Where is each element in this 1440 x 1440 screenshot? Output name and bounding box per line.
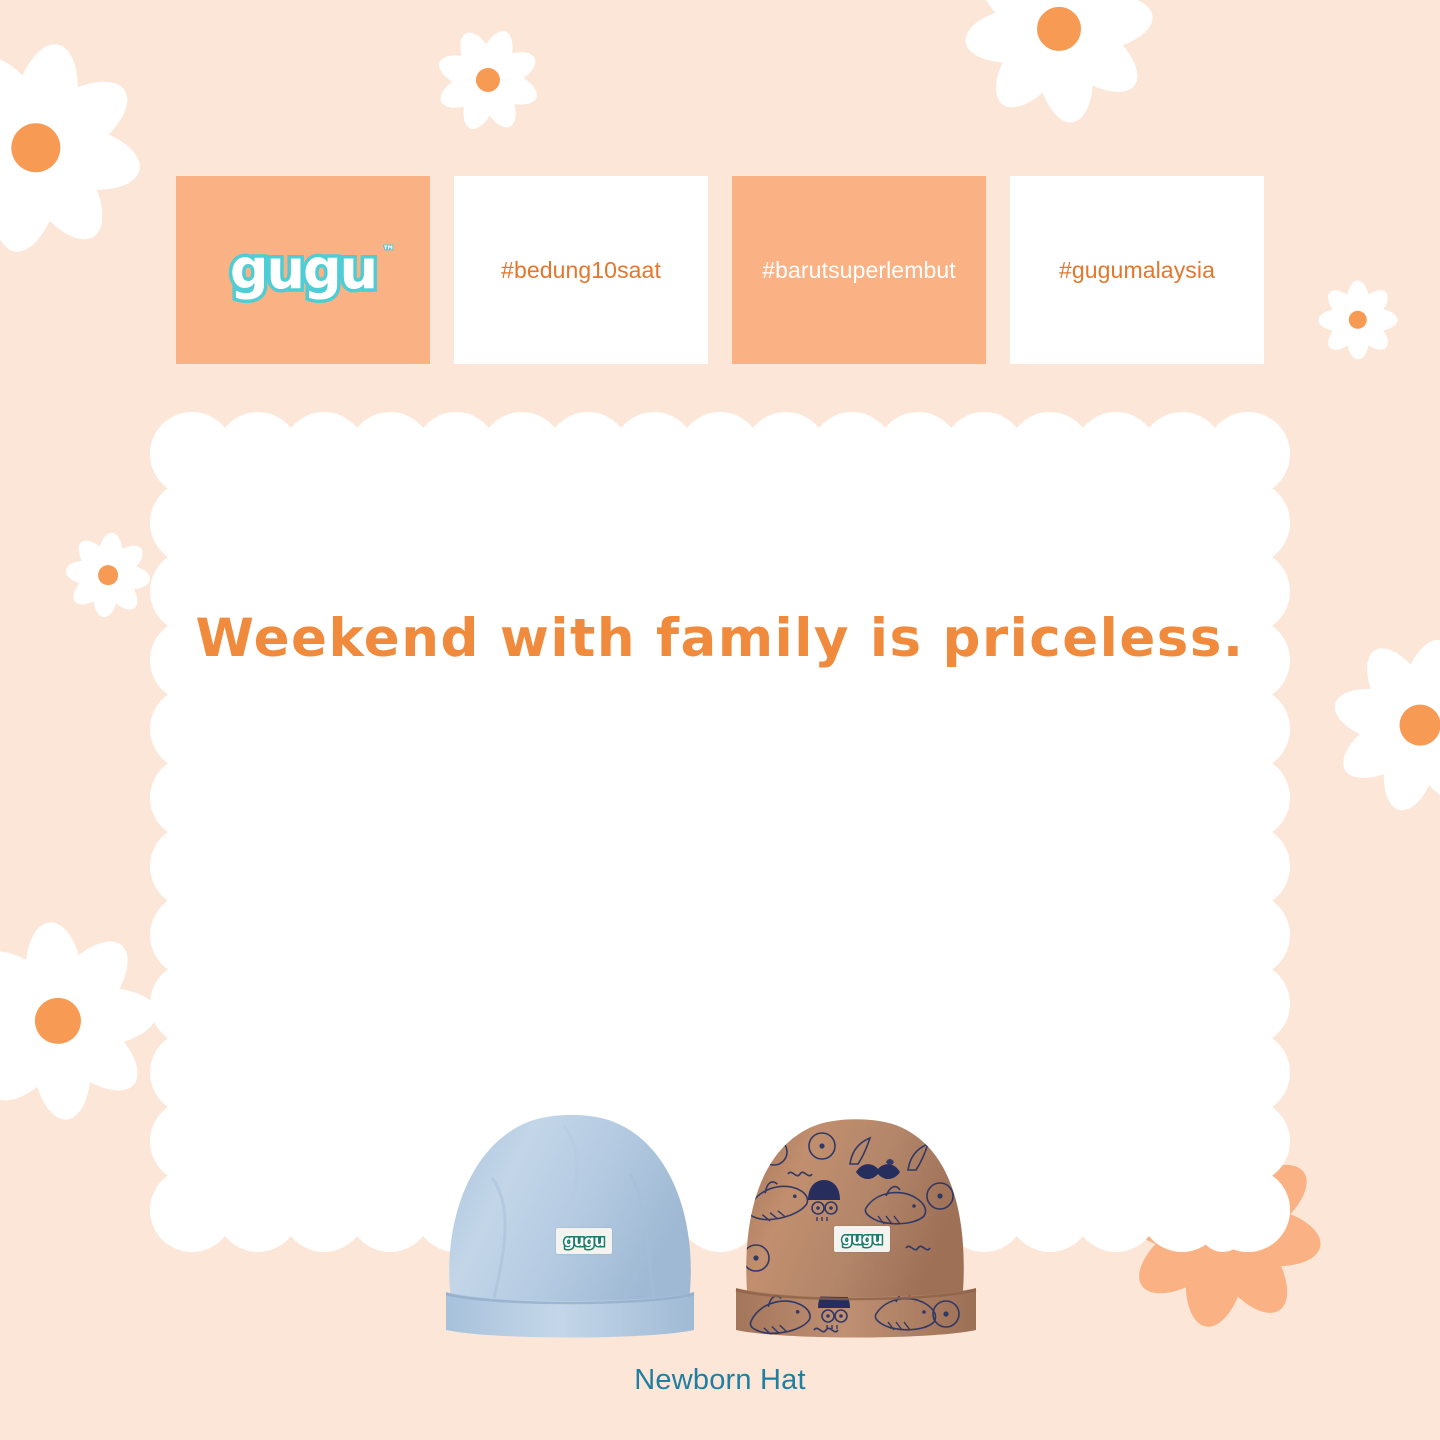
brand-tag-label: gugu	[842, 1232, 883, 1247]
brand-tag-brown-hat: gugu	[834, 1226, 890, 1252]
hashtag-label: #barutsuperlembut	[762, 257, 955, 284]
daisy-bottom-left-large-icon	[0, 904, 173, 1137]
product-image-newborn-hat-blue[interactable]: gugu	[432, 1108, 708, 1340]
brand-tag-label: gugu	[564, 1234, 605, 1249]
headline-text: Weekend with family is priceless.	[0, 608, 1440, 669]
hashtag-label: #bedung10saat	[501, 257, 661, 284]
daisy-top-right-large-icon	[942, 0, 1174, 144]
social-post-canvas: Weekend with family is priceless. gugu ™…	[0, 0, 1440, 1440]
daisy-top-left-large-icon	[0, 12, 172, 285]
brand-logo-card[interactable]: gugu ™	[176, 176, 430, 364]
daisy-top-center-icon	[416, 8, 560, 152]
trademark-icon: ™	[382, 245, 393, 258]
gugu-logo: gugu ™	[230, 243, 376, 297]
hashtag-card-bedung10saat[interactable]: #bedung10saat	[454, 176, 708, 364]
scalloped-panel	[150, 412, 1290, 1252]
product-image-newborn-hat-brown[interactable]: gugu	[726, 1108, 984, 1340]
hashtag-card-barutsuperlembut[interactable]: #barutsuperlembut	[732, 176, 986, 364]
brand-tag-blue-hat: gugu	[556, 1228, 612, 1254]
product-caption: Newborn Hat	[0, 1364, 1440, 1397]
gugu-logo-wordmark: gugu	[230, 238, 376, 301]
hashtag-card-gugumalaysia[interactable]: #gugumalaysia	[1010, 176, 1264, 364]
hashtag-label: #gugumalaysia	[1059, 257, 1215, 284]
hashtag-card-strip: gugu ™ #bedung10saat #barutsuperlembut #…	[176, 176, 1264, 364]
daisy-right-small-icon	[1315, 277, 1401, 363]
